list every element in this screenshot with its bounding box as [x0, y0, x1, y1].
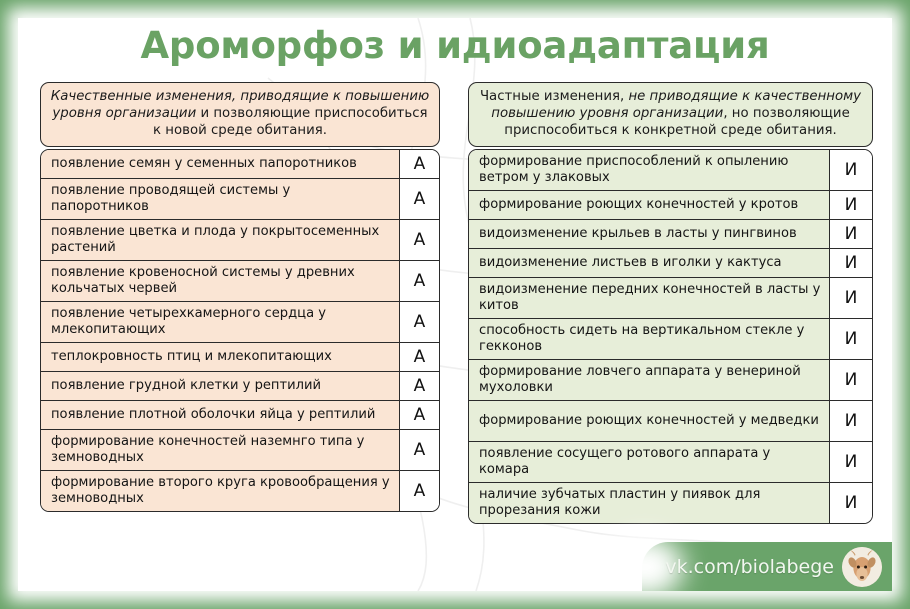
row-text: формирование конечностей наземнго типа у…	[41, 430, 399, 470]
row-text: видоизменение листьев в иголки у кактуса	[469, 249, 829, 277]
row-mark: И	[829, 442, 872, 482]
row-text: формирование второго круга кровообращени…	[41, 471, 399, 511]
row-text: видоизменение крыльев в ласты у пингвино…	[469, 220, 829, 248]
table-row[interactable]: появление грудной клетки у рептилий А	[41, 372, 439, 401]
vk-watermark-badge[interactable]: vk.com/biolabege	[642, 542, 892, 591]
row-text: появление четырехкамерного сердца у млек…	[41, 302, 399, 342]
row-text: появление грудной клетки у рептилий	[41, 372, 399, 400]
row-text: способность сидеть на вертикальном стекл…	[469, 319, 829, 359]
row-mark: И	[829, 360, 872, 400]
idioadaptation-definition-line1-italic: не приводящие к качественному	[628, 89, 861, 104]
table-row[interactable]: способность сидеть на вертикальном стекл…	[469, 319, 872, 360]
aromorphosis-definition-box: Качественные изменения, приводящие к пов…	[40, 82, 440, 147]
idioadaptation-column: Частные изменения, не приводящие к качес…	[468, 82, 873, 524]
table-row[interactable]: появление семян у семенных папоротников …	[41, 150, 439, 179]
idioadaptation-definition-line2-italic: повышению уровня организации	[491, 106, 723, 121]
row-text: появление цветка и плода у покрытосеменн…	[41, 220, 399, 260]
table-row[interactable]: появление кровеносной системы у древних …	[41, 261, 439, 302]
page-title: Ароморфоз и идиоадаптация	[18, 24, 892, 67]
deer-avatar-icon	[842, 547, 882, 587]
idioadaptation-definition-line1-plain: Частные изменения,	[480, 89, 629, 104]
idioadaptation-definition-box: Частные изменения, не приводящие к качес…	[468, 82, 873, 147]
row-mark: А	[399, 302, 439, 342]
row-text: формирование приспособлений к опылению в…	[469, 150, 829, 190]
vk-url-label: vk.com/biolabege	[665, 556, 834, 578]
row-text: наличие зубчатых пластин у пиявок для пр…	[469, 483, 829, 523]
row-mark: А	[399, 261, 439, 301]
table-row[interactable]: формирование конечностей наземнго типа у…	[41, 430, 439, 471]
row-text: появление сосущего ротового аппарата у к…	[469, 442, 829, 482]
row-text: формирование роющих конечностей у медвед…	[469, 401, 829, 441]
row-mark: И	[829, 401, 872, 441]
row-text: видоизменение передних конечностей в лас…	[469, 278, 829, 318]
table-row[interactable]: появление плотной оболочки яйца у рептил…	[41, 401, 439, 430]
table-row[interactable]: теплокровность птиц и млекопитающих А	[41, 343, 439, 372]
table-row[interactable]: появление сосущего ротового аппарата у к…	[469, 442, 872, 483]
table-row[interactable]: появление четырехкамерного сердца у млек…	[41, 302, 439, 343]
row-mark: А	[399, 220, 439, 260]
slide-content: Ароморфоз и идиоадаптация Качественные и…	[18, 18, 892, 591]
row-mark: А	[399, 343, 439, 371]
table-row[interactable]: появление проводящей системы у папоротни…	[41, 179, 439, 220]
table-row[interactable]: формирование ловчего аппарата у венерино…	[469, 360, 872, 401]
row-text: формирование ловчего аппарата у венерино…	[469, 360, 829, 400]
table-row[interactable]: формирование второго круга кровообращени…	[41, 471, 439, 511]
row-mark: И	[829, 249, 872, 277]
aromorphosis-column: Качественные изменения, приводящие к пов…	[40, 82, 440, 512]
row-mark: А	[399, 430, 439, 470]
idioadaptation-definition-line3: приспособиться к конкретной среде обитан…	[504, 123, 837, 138]
row-mark: И	[829, 483, 872, 523]
idioadaptation-table: формирование приспособлений к опылению в…	[468, 149, 873, 524]
row-text: теплокровность птиц и млекопитающих	[41, 343, 399, 371]
row-text: появление кровеносной системы у древних …	[41, 261, 399, 301]
row-text: появление семян у семенных папоротников	[41, 150, 399, 178]
row-text: появление проводящей системы у папоротни…	[41, 179, 399, 219]
aromorphosis-table: появление семян у семенных папоротников …	[40, 149, 440, 512]
table-row[interactable]: появление цветка и плода у покрытосеменн…	[41, 220, 439, 261]
row-mark: А	[399, 401, 439, 429]
aromorphosis-definition-line2-italic: уровня организации	[52, 106, 196, 121]
slide-inner-canvas: Ароморфоз и идиоадаптация Качественные и…	[18, 18, 892, 591]
row-mark: А	[399, 372, 439, 400]
slide: Ароморфоз и идиоадаптация Качественные и…	[0, 0, 910, 609]
row-mark: И	[829, 220, 872, 248]
row-mark: А	[399, 179, 439, 219]
row-mark: И	[829, 150, 872, 190]
table-row[interactable]: формирование приспособлений к опылению в…	[469, 150, 872, 191]
aromorphosis-definition-line2-rest: и позволяющие приспособиться	[196, 106, 427, 121]
row-mark: А	[399, 150, 439, 178]
table-row[interactable]: видоизменение листьев в иголки у кактуса…	[469, 249, 872, 278]
row-text: появление плотной оболочки яйца у рептил…	[41, 401, 399, 429]
idioadaptation-definition-line2-rest: , но позволяющие	[723, 106, 849, 121]
aromorphosis-definition-line1: Качественные изменения, приводящие к пов…	[51, 89, 429, 104]
row-mark: А	[399, 471, 439, 511]
table-row[interactable]: формирование роющих конечностей у медвед…	[469, 401, 872, 442]
row-mark: И	[829, 278, 872, 318]
table-row[interactable]: видоизменение крыльев в ласты у пингвино…	[469, 220, 872, 249]
table-row[interactable]: наличие зубчатых пластин у пиявок для пр…	[469, 483, 872, 523]
row-text: формирование роющих конечностей у кротов	[469, 191, 829, 219]
row-mark: И	[829, 191, 872, 219]
table-row[interactable]: видоизменение передних конечностей в лас…	[469, 278, 872, 319]
aromorphosis-definition-line3: к новой среде обитания.	[153, 123, 327, 138]
row-mark: И	[829, 319, 872, 359]
table-row[interactable]: формирование роющих конечностей у кротов…	[469, 191, 872, 220]
